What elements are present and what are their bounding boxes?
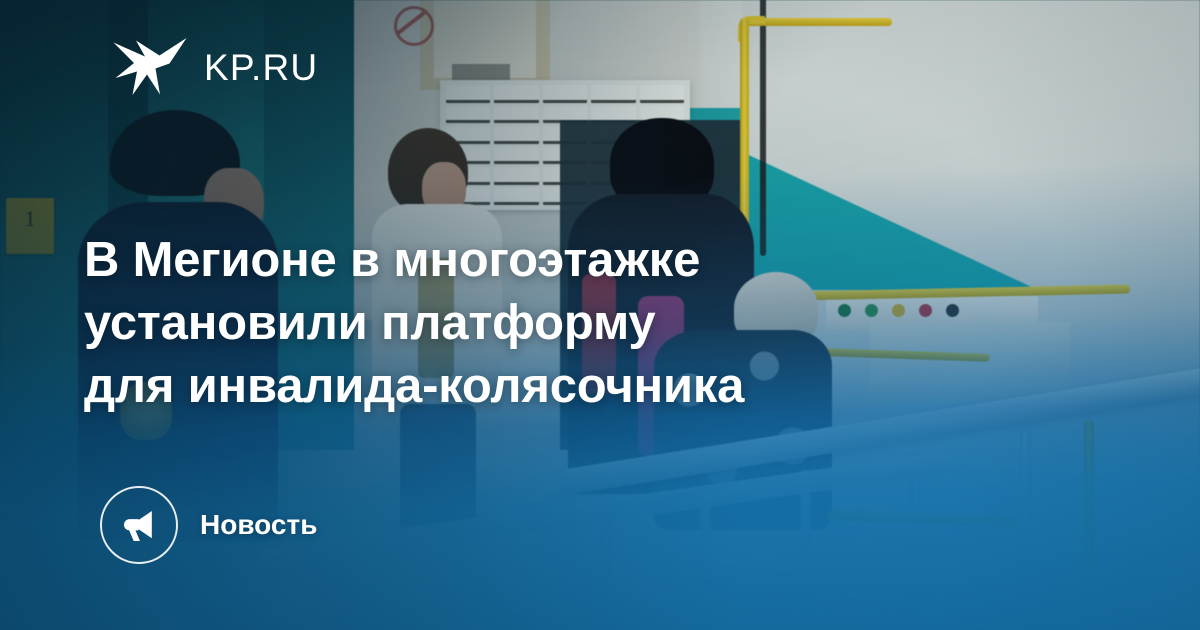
megaphone-icon [120,506,158,544]
kp-swallow-bird-logo-icon [112,36,188,98]
card-overlay-ui: KP.RU В Мегионе в многоэтажке установили… [0,0,1200,630]
badge-circle [100,486,178,564]
status-badge[interactable]: Новость [100,486,317,564]
kp-news-social-card: 1 [0,0,1200,630]
headline-line-2: установили платформу [84,292,1084,355]
headline-line-1: В Мегионе в многоэтажке [84,229,1084,292]
page-title: В Мегионе в многоэтажке установили платф… [84,229,1084,418]
brand-name: KP.RU [204,49,318,86]
status-badge-label: Новость [200,511,317,539]
brand-lockup[interactable]: KP.RU [112,36,318,98]
headline-line-3: для инвалида-колясочника [84,355,1084,418]
